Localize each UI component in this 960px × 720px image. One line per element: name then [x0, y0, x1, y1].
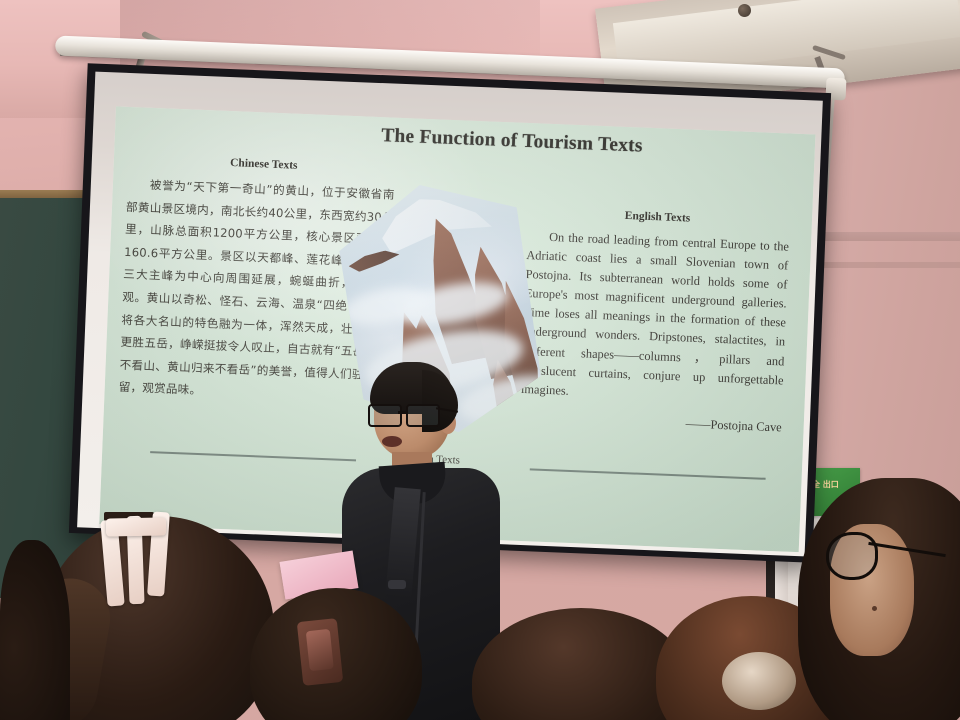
glasses-lens-right	[406, 404, 440, 427]
hair-scrunchie	[722, 652, 796, 710]
presenter-mouth	[382, 436, 402, 447]
student-glasses-icon	[826, 532, 946, 576]
student-hair-accessory	[297, 618, 343, 686]
english-column-heading: English Texts	[530, 206, 785, 228]
english-column-body: On the road leading from central Europe …	[521, 227, 790, 409]
wall-trim-lower	[808, 262, 960, 268]
english-attribution: ——Postojna Cave	[520, 410, 782, 436]
glasses-lens-left	[368, 404, 402, 427]
student-glasses-temple	[868, 542, 946, 558]
divider-line-left	[150, 451, 356, 461]
slide-title: The Function of Tourism Texts	[347, 124, 678, 159]
chinese-column-heading: Chinese Texts	[134, 153, 394, 175]
glasses-bridge	[398, 411, 406, 414]
student-glasses-lens	[826, 532, 878, 580]
beam-fastener-icon	[738, 4, 751, 17]
classroom-scene: 安全 出口 品牌标识 The Function of Tourism Texts…	[0, 0, 960, 720]
hair-clip	[104, 512, 170, 606]
hair-clip-top	[106, 517, 166, 536]
presenter-pocket	[388, 580, 406, 589]
divider-line-right	[530, 468, 766, 479]
student-face-mark	[872, 606, 877, 611]
foreground-shadow	[0, 540, 70, 720]
presenter-glasses-icon	[368, 404, 442, 424]
